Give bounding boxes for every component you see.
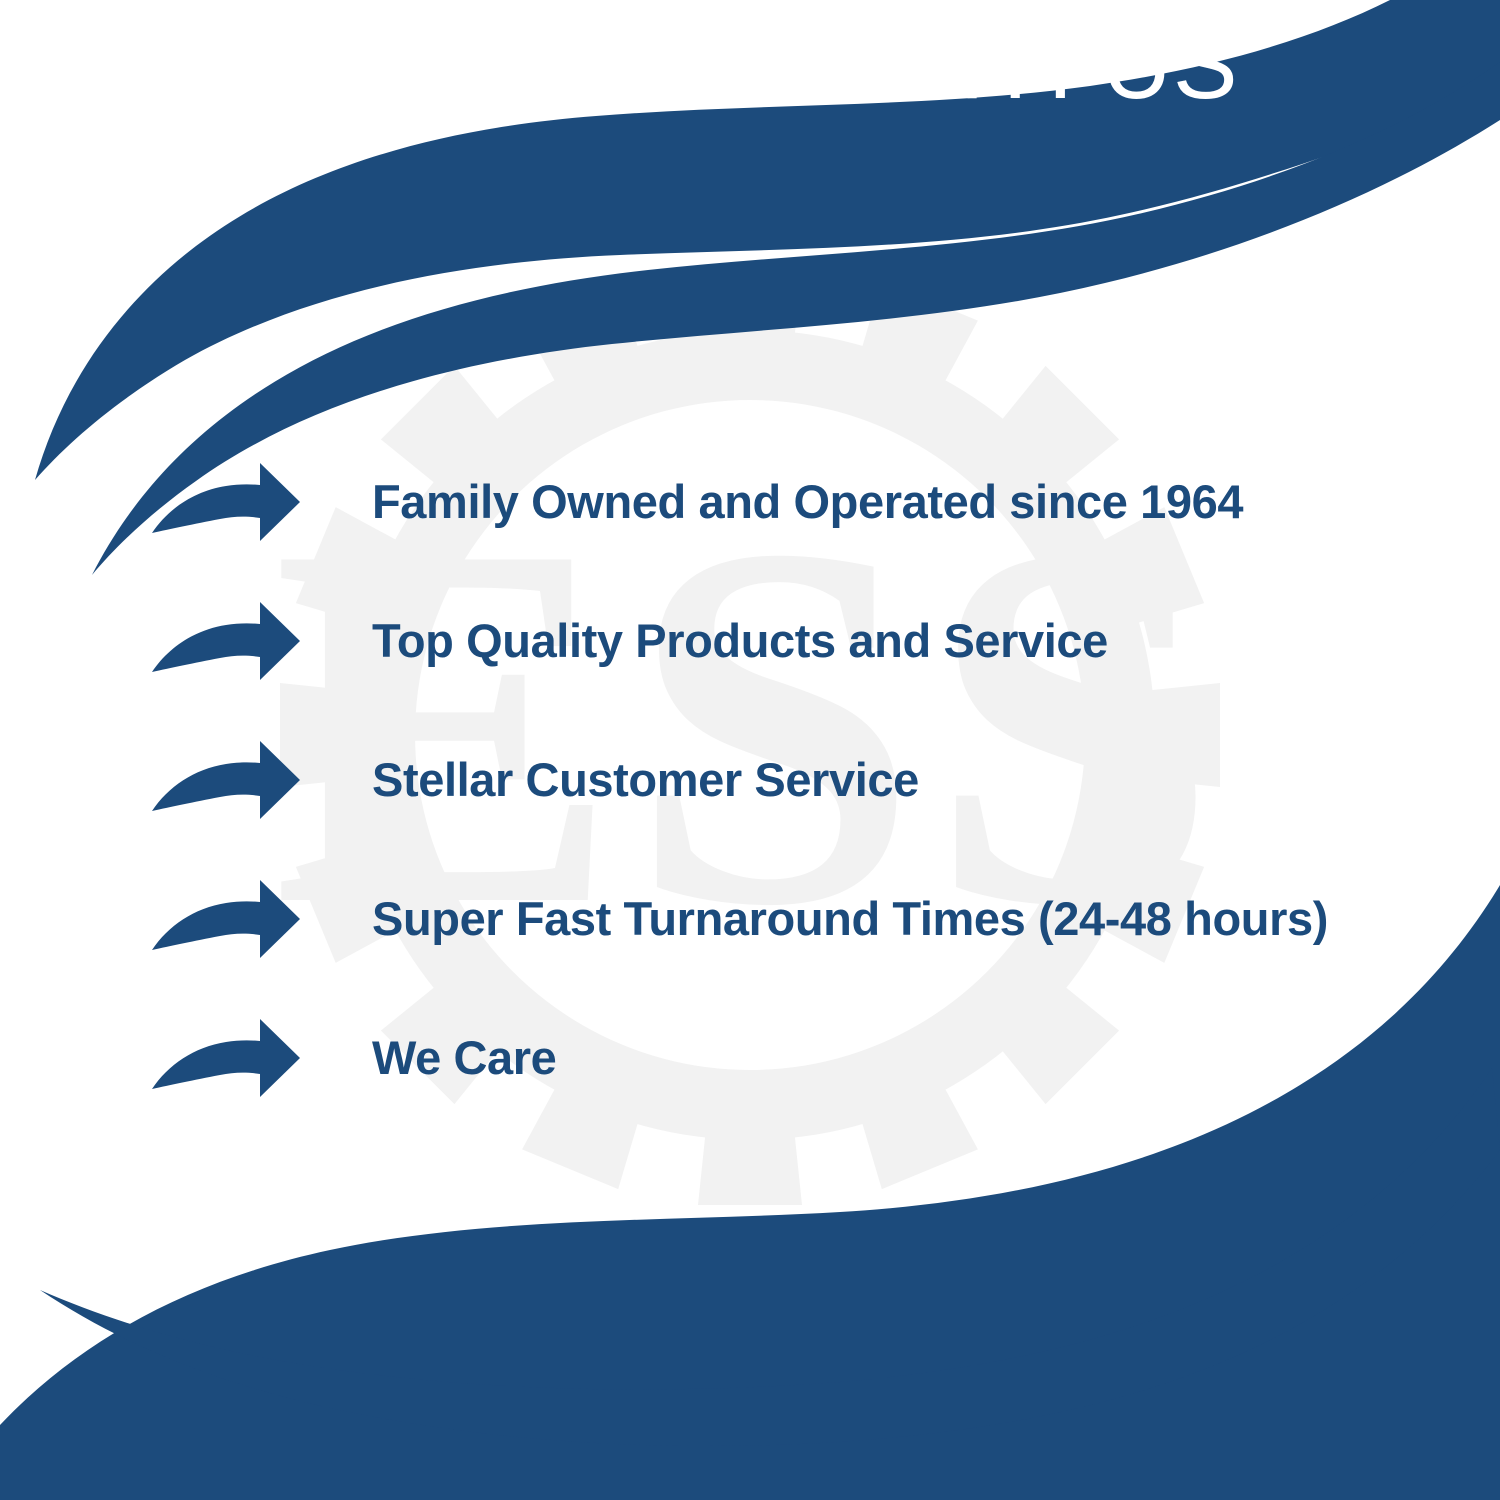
- benefits-list: Family Owned and Operated since 1964 Top…: [150, 432, 1450, 1127]
- benefit-label: Stellar Customer Service: [372, 756, 919, 803]
- benefit-label: We Care: [372, 1034, 556, 1081]
- benefit-label: Family Owned and Operated since 1964: [372, 478, 1243, 525]
- curved-arrow-right-icon: [150, 461, 302, 543]
- curved-arrow-right-icon: [150, 1017, 302, 1099]
- curved-arrow-right-icon: [150, 739, 302, 821]
- benefit-label: Super Fast Turnaround Times (24-48 hours…: [372, 895, 1328, 942]
- benefit-label: Top Quality Products and Service: [372, 617, 1108, 664]
- page-title: WHY SHOP WITH US: [261, 0, 1238, 116]
- list-item: Stellar Customer Service: [150, 710, 1450, 849]
- curved-arrow-right-icon: [150, 600, 302, 682]
- promo-graphic: ESS WHY SHOP WITH US Family Owned and Op…: [0, 0, 1500, 1500]
- list-item: Top Quality Products and Service: [150, 571, 1450, 710]
- list-item: We Care: [150, 988, 1450, 1127]
- curved-arrow-right-icon: [150, 878, 302, 960]
- header-band: WHY SHOP WITH US: [0, 0, 1500, 150]
- list-item: Super Fast Turnaround Times (24-48 hours…: [150, 849, 1450, 988]
- list-item: Family Owned and Operated since 1964: [150, 432, 1450, 571]
